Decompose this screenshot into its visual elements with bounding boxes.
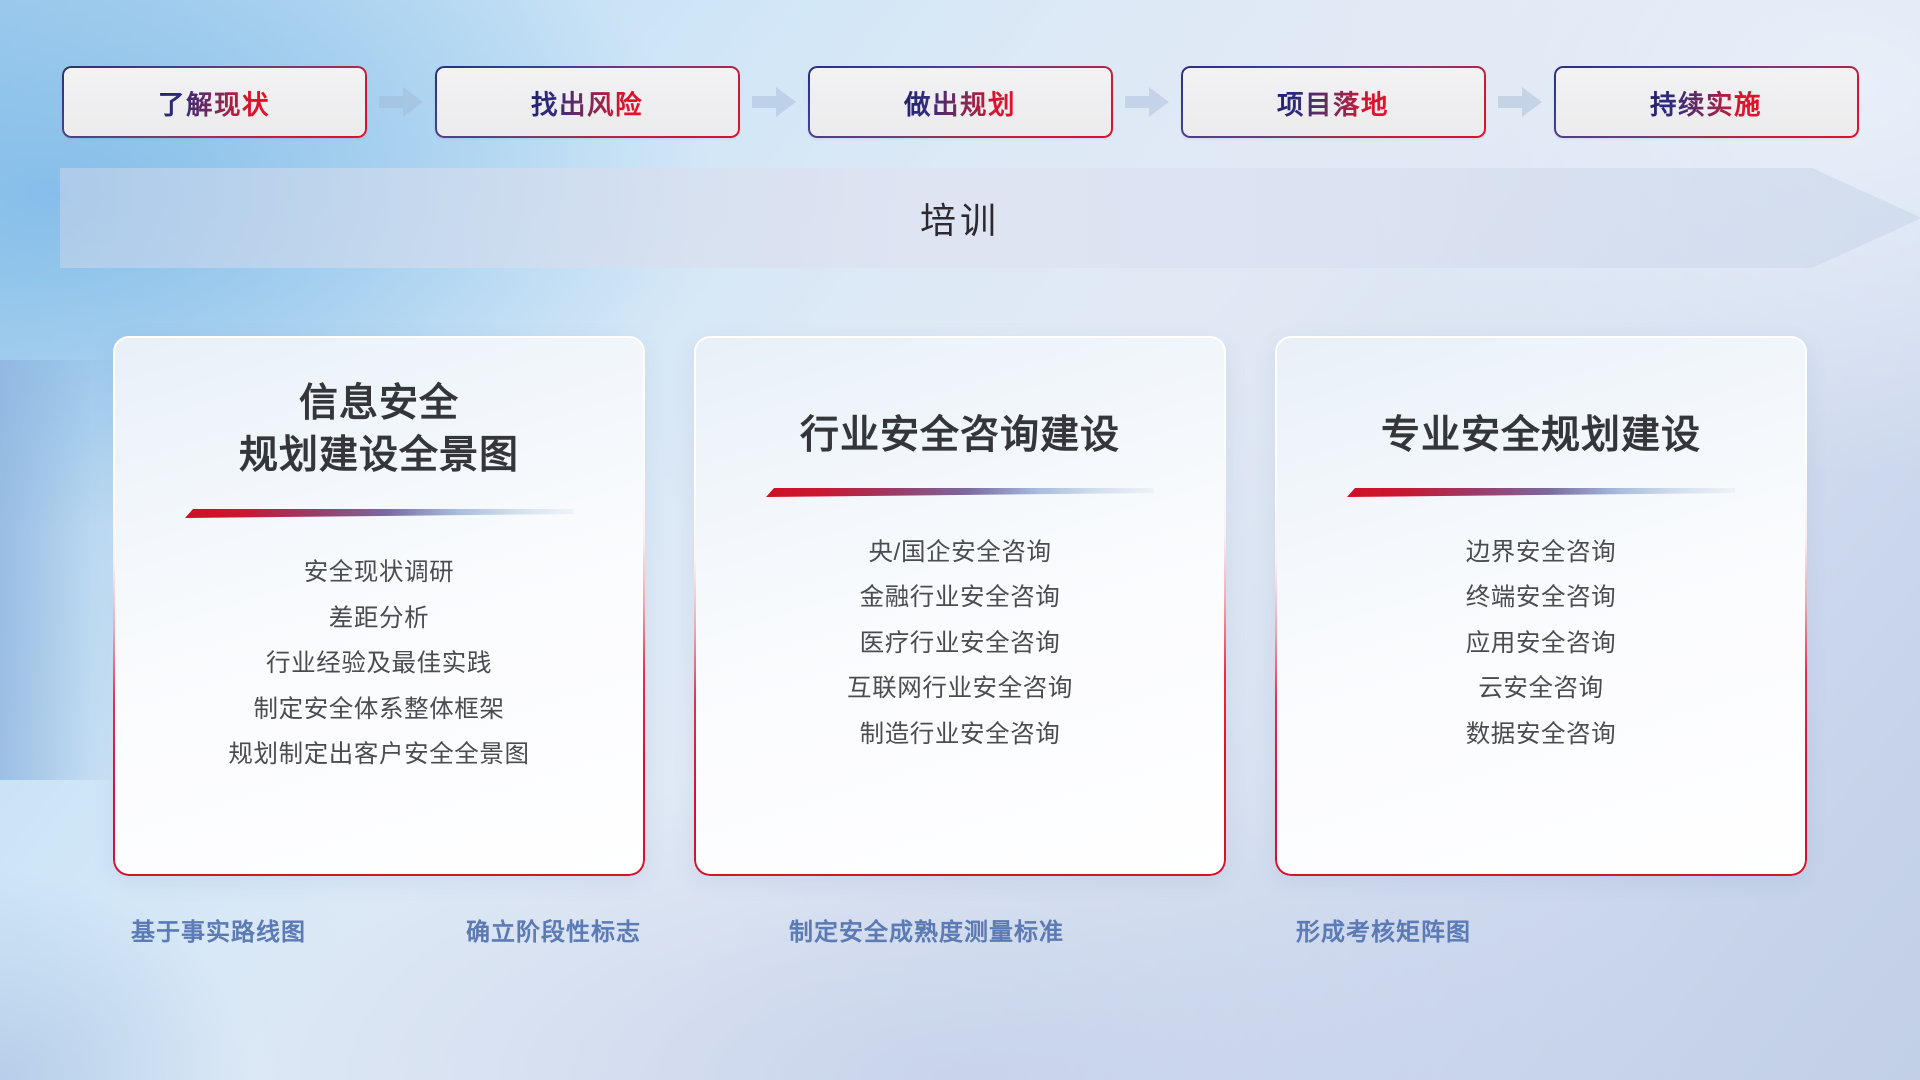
list-item: 互联网行业安全咨询 xyxy=(847,667,1073,713)
list-item: 金融行业安全咨询 xyxy=(860,576,1061,622)
list-item: 央/国企安全咨询 xyxy=(868,530,1051,576)
caption-label: 基于事实路线图 xyxy=(131,912,306,947)
process-step-0[interactable]: 了解现状 xyxy=(62,66,367,138)
list-item: 行业经验及最佳实践 xyxy=(266,642,492,688)
caption-label: 确立阶段性标志 xyxy=(466,912,641,947)
process-step-3[interactable]: 项目落地 xyxy=(1181,66,1486,138)
service-card[interactable]: 专业安全规划建设 xyxy=(1275,336,1807,876)
list-item: 规划制定出客户安全全景图 xyxy=(228,733,529,779)
service-card-body: 行业安全咨询建设 xyxy=(694,336,1226,876)
caption-row: 基于事实路线图 确立阶段性标志 制定安全成熟度测量标准 形成考核矩阵图 xyxy=(0,912,1920,962)
process-step-1[interactable]: 找出风险 xyxy=(435,66,740,138)
list-item: 应用安全咨询 xyxy=(1466,621,1617,667)
list-item: 安全现状调研 xyxy=(304,551,455,597)
process-step-label: 项目落地 xyxy=(1277,83,1389,122)
process-step-label: 持续实施 xyxy=(1650,83,1762,122)
service-card-title: 专业安全规划建设 xyxy=(1381,378,1701,462)
list-item: 边界安全咨询 xyxy=(1466,530,1617,576)
arrow-right-icon-glyph xyxy=(377,85,425,119)
caption-label: 制定安全成熟度测量标准 xyxy=(789,912,1064,947)
process-step-2[interactable]: 做出规划 xyxy=(808,66,1113,138)
service-card-item-list: 央/国企安全咨询 金融行业安全咨询 医疗行业安全咨询 互联网行业安全咨询 制造行… xyxy=(694,530,1226,758)
gradient-divider-icon xyxy=(766,484,1154,500)
service-card-title: 行业安全咨询建设 xyxy=(800,378,1120,462)
arrow-right-icon-glyph xyxy=(1123,85,1171,119)
list-item: 制定安全体系整体框架 xyxy=(254,687,505,733)
process-step-row: 了解现状 找出风险 做出规划 项目落地 持续实施 xyxy=(0,62,1920,142)
service-card[interactable]: 信息安全 规划建设全景图 xyxy=(113,336,645,876)
process-step-4[interactable]: 持续实施 xyxy=(1554,66,1859,138)
gradient-divider-icon xyxy=(1347,484,1735,500)
list-item: 医疗行业安全咨询 xyxy=(860,621,1061,667)
training-banner: 培训 xyxy=(60,160,1920,276)
process-step-label: 找出风险 xyxy=(531,83,643,122)
gradient-divider-icon xyxy=(185,505,573,521)
list-item: 数据安全咨询 xyxy=(1466,712,1617,758)
arrow-right-icon xyxy=(750,85,798,119)
training-banner-label: 培训 xyxy=(60,160,1860,276)
service-card-body: 信息安全 规划建设全景图 xyxy=(113,336,645,876)
process-step-label: 了解现状 xyxy=(158,83,270,122)
service-card-item-list: 边界安全咨询 终端安全咨询 应用安全咨询 云安全咨询 数据安全咨询 xyxy=(1275,530,1807,758)
gradient-divider-shape xyxy=(766,484,1154,500)
gradient-divider-shape xyxy=(185,505,573,521)
arrow-right-icon-glyph xyxy=(750,85,798,119)
service-card-title: 信息安全 规划建设全景图 xyxy=(239,378,519,483)
gradient-divider-shape xyxy=(1347,484,1735,500)
list-item: 终端安全咨询 xyxy=(1466,576,1617,622)
process-step-label: 做出规划 xyxy=(904,83,1016,122)
arrow-right-icon xyxy=(1123,85,1171,119)
list-item: 制造行业安全咨询 xyxy=(860,712,1061,758)
arrow-right-icon-glyph xyxy=(1496,85,1544,119)
arrow-right-icon xyxy=(1496,85,1544,119)
list-item: 云安全咨询 xyxy=(1478,667,1604,713)
service-card-item-list: 安全现状调研 差距分析 行业经验及最佳实践 制定安全体系整体框架 规划制定出客户… xyxy=(113,551,645,779)
service-card[interactable]: 行业安全咨询建设 xyxy=(694,336,1226,876)
service-card-body: 专业安全规划建设 xyxy=(1275,336,1807,876)
list-item: 差距分析 xyxy=(329,596,429,642)
caption-label: 形成考核矩阵图 xyxy=(1296,912,1471,947)
service-card-row: 信息安全 规划建设全景图 xyxy=(0,336,1920,876)
arrow-right-icon xyxy=(377,85,425,119)
